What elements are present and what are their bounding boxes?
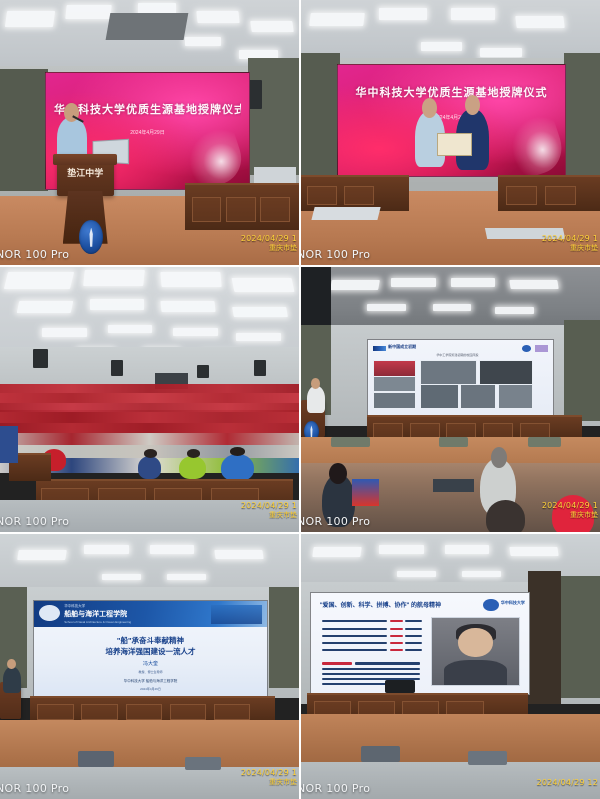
stage-monitor — [528, 437, 561, 448]
ceiling-light — [161, 272, 222, 287]
podium: 垫江中学 — [57, 154, 114, 196]
ceiling-light — [421, 42, 463, 51]
camera-watermark: NOR 100 Pro — [0, 782, 69, 795]
timestamp-watermark: 2024/04/29 1 重庆市垫 — [542, 234, 598, 253]
desk-device — [385, 680, 415, 693]
ceiling-light — [17, 301, 73, 313]
camera-watermark: NOR 100 Pro — [0, 515, 69, 528]
timestamp-watermark: 2024/04/29 12 — [537, 778, 598, 787]
timestamp-watermark: 2024/04/29 1 重庆市垫 — [241, 768, 297, 787]
ceiling-light — [510, 280, 559, 289]
desk-top — [254, 167, 296, 183]
university-logo — [483, 599, 498, 611]
ceiling-light — [17, 550, 66, 560]
panel-student-audience[interactable]: NOR 100 Pro 2024/04/29 1 重庆市垫 — [0, 267, 299, 532]
slide-title: 新中国成立初期 — [388, 344, 416, 350]
ceiling-light — [510, 547, 559, 556]
slide-photo — [498, 384, 533, 409]
slide-badge — [535, 345, 548, 352]
led-screen: 华中科技大学优质生源基地授牌仪式 2024年4月29日 — [337, 64, 566, 177]
wall-panel-right — [561, 576, 600, 698]
slide-photo — [479, 360, 533, 385]
slide-photo — [420, 384, 459, 409]
ceiling-light — [161, 301, 216, 312]
photo-collage: 华中科技大学优质生源基地授牌仪式 2024年4月29日 垫江中学 NOR 100… — [0, 0, 600, 799]
ceiling-light — [4, 272, 74, 289]
timestamp-date: 2024/04/29 12 — [537, 778, 598, 787]
ceiling-light — [330, 280, 380, 290]
camera-watermark: NOR 100 Pro — [0, 248, 69, 261]
screen-title: 华中科技大学优质生源基地授牌仪式 — [347, 84, 556, 100]
ceiling-light — [312, 547, 361, 557]
camera-watermark: NOR 100 Pro — [301, 515, 370, 528]
ceiling-light — [367, 304, 406, 311]
ceiling-light — [90, 299, 144, 310]
slide-photo — [460, 384, 495, 409]
ceiling-light — [65, 5, 111, 19]
wall-panel-left — [301, 53, 340, 180]
panel-carrier-spirit-slide[interactable]: "爱国、创新、科学、拼搏、协作" 的航母精神 华中科技大学 — [301, 534, 600, 799]
ceiling-light — [185, 37, 221, 46]
ceiling-light — [108, 325, 153, 333]
ceiling-light — [232, 307, 288, 317]
ceiling-light — [397, 571, 436, 577]
slide-logo-mark — [373, 346, 386, 351]
camera-watermark: NOR 100 Pro — [301, 248, 370, 261]
loudspeaker — [111, 360, 123, 376]
slide-ship-image — [211, 605, 262, 624]
stage-monitor — [361, 746, 400, 762]
side-door — [528, 571, 561, 704]
ceiling-light — [516, 16, 565, 28]
loudspeaker — [254, 360, 266, 376]
loudspeaker — [197, 365, 209, 378]
ceiling-light — [309, 13, 364, 26]
slide-speaker-title: 教授、博士生导师 — [34, 670, 267, 674]
stage-table-left — [301, 175, 409, 211]
podium-label: 垫江中学 — [57, 166, 114, 179]
slide-headline-2: 培养海洋强国建设一流人才 — [34, 646, 267, 657]
led-screen: 新中国成立初期 华中工学院筹建初期的校园风貌 — [367, 339, 554, 418]
panel-presentation-campus-history[interactable]: 新中国成立初期 华中工学院筹建初期的校园风貌 — [301, 267, 600, 532]
slide-headline-1: "船"承奋斗奉献精神 — [34, 635, 267, 646]
ceiling-light — [173, 328, 218, 336]
slide-photo — [420, 360, 478, 385]
slide-school-en: School of Naval Architecture & Ocean Eng… — [64, 620, 131, 624]
slide-affiliation: 华中科技大学 船舶与海洋工程学院 — [34, 679, 267, 684]
stage-monitor — [468, 751, 507, 764]
university-logo — [522, 345, 531, 352]
line-array-speaker — [301, 267, 331, 325]
loudspeaker — [33, 349, 48, 368]
desk-device — [433, 479, 475, 492]
timestamp-location: 重庆市垫 — [241, 510, 297, 520]
ceiling-light — [215, 550, 264, 559]
ceiling-light — [42, 328, 87, 337]
screen-title: 华中科技大学优质生源基地授牌仪式 — [54, 101, 241, 117]
slide-university: 华中科技大学 — [64, 604, 85, 609]
panel-naval-engineering-slide[interactable]: 华中科技大学 船舶与海洋工程学院 School of Naval Archite… — [0, 534, 299, 799]
ceiling-light — [250, 21, 293, 32]
stage-monitor — [439, 437, 469, 448]
timestamp-watermark: 2024/04/29 1 重庆市垫 — [542, 501, 598, 520]
audience-member — [486, 500, 525, 532]
wall-panel-right — [269, 587, 299, 688]
ceiling-light — [462, 571, 501, 577]
slide-photo — [373, 376, 416, 392]
timestamp-date: 2024/04/29 1 — [241, 501, 297, 510]
ceiling-light — [495, 307, 534, 314]
audience-member — [138, 456, 162, 479]
school-logo — [39, 605, 60, 621]
ceiling-duct — [105, 13, 187, 40]
award-plaque — [437, 133, 472, 156]
camera-watermark: NOR 100 Pro — [301, 782, 370, 795]
ceiling-light — [150, 545, 195, 554]
portrait-photo — [431, 617, 520, 685]
ceiling-light — [102, 574, 141, 580]
ceiling-light — [167, 574, 206, 580]
slide-caption: 华中工学院筹建初期的校园风貌 — [436, 353, 478, 357]
slide-photo — [373, 360, 416, 377]
slide-date: 2024年4月29日 — [34, 687, 267, 691]
side-banner — [0, 426, 18, 463]
timestamp-date: 2024/04/29 1 — [241, 234, 297, 243]
ceiling-light — [391, 278, 436, 287]
ceiling-light — [480, 48, 522, 57]
timestamp-watermark: 2024/04/29 1 重庆市垫 — [241, 234, 297, 253]
wall-panel-right — [564, 320, 600, 421]
ceiling-light — [451, 8, 496, 20]
timestamp-date: 2024/04/29 1 — [542, 234, 598, 243]
wall-panel-left — [0, 69, 48, 191]
ceiling-light — [232, 278, 295, 292]
slide-school: 船舶与海洋工程学院 — [64, 609, 127, 619]
ceiling-light — [433, 304, 472, 311]
timestamp-location: 重庆市垫 — [542, 510, 598, 520]
wall-panel-right — [248, 58, 299, 175]
timestamp-date: 2024/04/29 1 — [542, 501, 598, 510]
wall-panel-right — [564, 53, 600, 180]
stage-monitor — [78, 751, 114, 767]
timestamp-location: 重庆市垫 — [542, 243, 598, 253]
speaker-body — [3, 667, 21, 694]
ceiling-light — [379, 545, 424, 554]
book-stack — [352, 479, 379, 506]
slide-university: 华中科技大学 — [501, 600, 525, 606]
slide-speaker: 冯大奎 — [34, 660, 267, 667]
ceiling-light — [451, 278, 496, 287]
timestamp-location: 重庆市垫 — [241, 243, 297, 253]
audience-member — [221, 454, 254, 482]
slide-photo — [373, 392, 416, 409]
stage-monitor — [331, 437, 370, 448]
screen-subtitle: 2024年4月29日 — [347, 114, 556, 121]
award-presenter-head — [422, 98, 437, 118]
audience-member — [179, 456, 206, 479]
timestamp-location: 重庆市垫 — [241, 777, 297, 787]
timestamp-watermark: 2024/04/29 1 重庆市垫 — [241, 501, 297, 520]
slide-title: "爱国、创新、科学、拼搏、协作" 的航母精神 — [320, 600, 441, 609]
panel-speaker-at-podium[interactable]: 华中科技大学优质生源基地授牌仪式 2024年4月29日 垫江中学 NOR 100… — [0, 0, 299, 265]
led-screen: "爱国、创新、科学、拼搏、协作" 的航母精神 华中科技大学 — [310, 592, 530, 695]
ceiling-light — [197, 11, 240, 23]
led-screen: 华中科技大学 船舶与海洋工程学院 School of Naval Archite… — [33, 600, 268, 697]
timestamp-date: 2024/04/29 1 — [241, 768, 297, 777]
stage-table — [185, 183, 299, 230]
panel-plaque-award-ceremony[interactable]: 华中科技大学优质生源基地授牌仪式 2024年4月29日 NOR 100 Pro … — [301, 0, 600, 265]
speaker-body — [307, 386, 325, 413]
ceiling-light — [84, 545, 129, 554]
stage-monitor — [185, 757, 221, 770]
stage-table-right — [498, 175, 600, 211]
ceiling-light — [445, 545, 490, 554]
ceiling-light — [83, 270, 144, 286]
stage-step — [311, 207, 380, 220]
ceiling-light — [5, 11, 55, 27]
ceiling-light — [236, 333, 281, 341]
ceiling-light — [379, 8, 427, 20]
